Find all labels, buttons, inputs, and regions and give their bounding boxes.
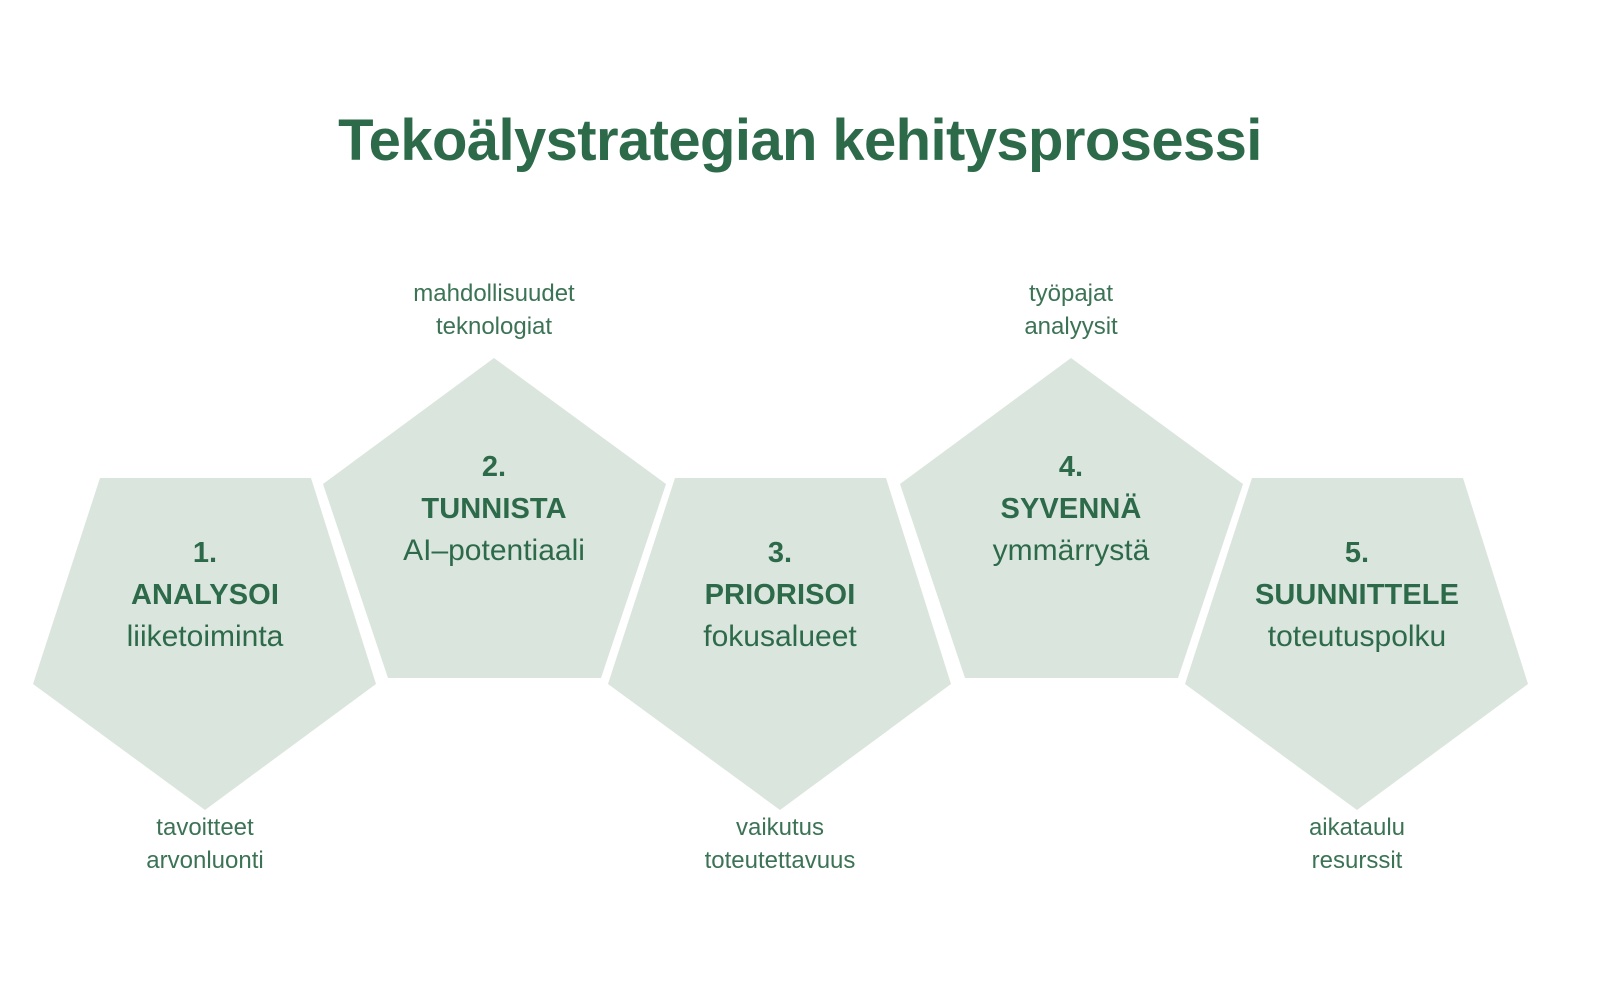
step-label-5: 5. SUUNNITTELE toteutuspolku (1207, 532, 1507, 659)
step-annotation-5-line-1: aikataulu (1207, 812, 1507, 845)
step-number-5: 5. (1207, 532, 1507, 574)
step-verb-5: SUUNNITTELE (1207, 574, 1507, 616)
step-annotation-5-line-2: resurssit (1207, 845, 1507, 878)
step-subtitle-5: toteutuspolku (1207, 616, 1507, 659)
step-annotation-5: aikataulu resurssit (1207, 812, 1507, 877)
process-diagram: 1. ANALYSOI liiketoiminta tavoitteet arv… (0, 0, 1600, 1000)
